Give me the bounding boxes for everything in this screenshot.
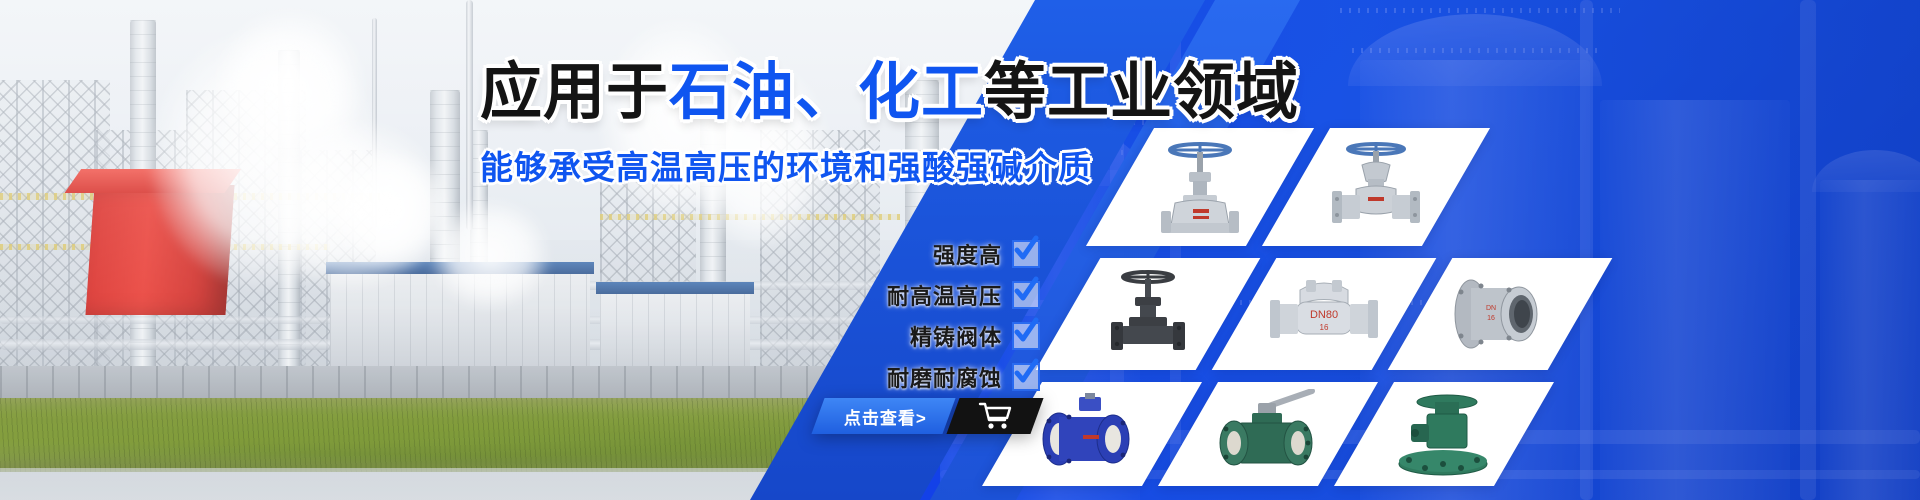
checkbox-checked-icon[interactable] <box>1012 322 1040 350</box>
cta-group: 点击查看> <box>818 398 1037 434</box>
feature-list: 强度高 耐高温高压 精铸阀体 耐磨耐腐蚀 <box>640 238 1040 393</box>
lever-ball-valve-green-icon <box>1208 389 1328 479</box>
feature-label: 精铸阀体 <box>910 320 1002 352</box>
cta-label: 点击查看> <box>844 404 927 429</box>
flanged-check-valve-icon: DN 16 <box>1445 270 1555 358</box>
forged-steel-gate-valve-icon <box>1093 266 1203 362</box>
swing-check-valve-icon: DN80 16 <box>1266 268 1382 360</box>
lined-ball-valve-blue-icon <box>1033 391 1151 477</box>
shopping-cart-icon <box>978 401 1012 431</box>
headline-part-3: 等工业领域 <box>984 58 1299 127</box>
checkbox-checked-icon[interactable] <box>1012 281 1040 309</box>
add-to-cart-button[interactable] <box>946 398 1043 434</box>
page-subtitle: 能够承受高温高压的环境和强酸强碱介质 <box>480 141 1200 189</box>
feature-item-strength[interactable]: 强度高 <box>933 238 1040 270</box>
feature-label: 强度高 <box>933 238 1002 270</box>
view-details-button[interactable]: 点击查看> <box>811 398 955 434</box>
headline-block: 应用于石油、化工等工业领域 能够承受高温高压的环境和强酸强碱介质 <box>480 60 1200 189</box>
checkbox-checked-icon[interactable] <box>1012 363 1040 391</box>
checkbox-checked-icon[interactable] <box>1012 240 1040 268</box>
svg-text:16: 16 <box>1487 315 1495 322</box>
feature-item-precision-cast-body[interactable]: 精铸阀体 <box>910 320 1040 352</box>
feature-item-wear-corrosion-resistant[interactable]: 耐磨耐腐蚀 <box>887 361 1040 393</box>
headline-part-1: 应用于 <box>480 58 669 127</box>
globe-valve-flanged-icon <box>1320 137 1432 237</box>
svg-text:DN: DN <box>1486 305 1496 312</box>
feature-label: 耐磨耐腐蚀 <box>887 361 1002 393</box>
flanged-bottom-valve-green-icon <box>1389 390 1499 478</box>
feature-item-high-temp-pressure[interactable]: 耐高温高压 <box>887 279 1040 311</box>
headline-part-highlight: 石油、化工 <box>669 58 984 127</box>
page-title: 应用于石油、化工等工业领域 <box>480 60 1200 127</box>
feature-label: 耐高温高压 <box>887 279 1002 311</box>
svg-text:16: 16 <box>1320 323 1329 332</box>
svg-text:DN80: DN80 <box>1310 309 1338 321</box>
promo-banner: DN80 16 DN 16 <box>0 0 1920 500</box>
